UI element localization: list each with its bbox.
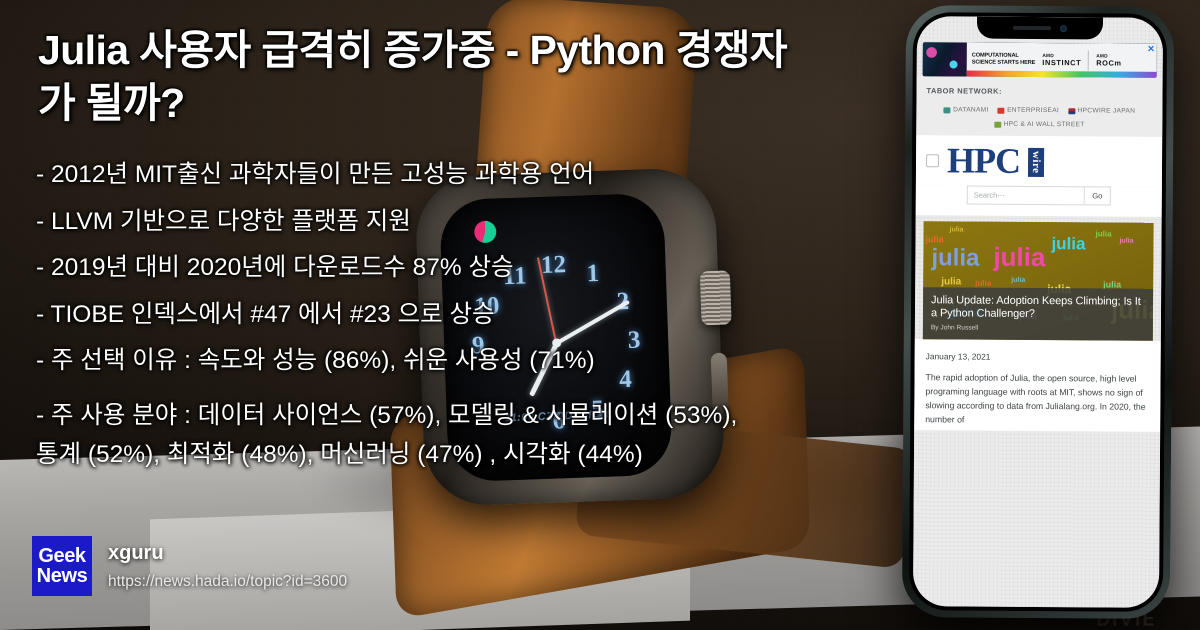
- list-item: - 주 선택 이유 : 속도와 성능 (86%), 쉬운 사용성 (71%): [36, 349, 826, 374]
- banner-ad[interactable]: COMPUTATIONAL SCIENCE STARTS HERE AMD IN…: [923, 42, 1157, 78]
- close-icon[interactable]: ✕: [1147, 45, 1155, 54]
- phone-screen: COMPUTATIONAL SCIENCE STARTS HERE AMD IN…: [913, 16, 1163, 608]
- network-link-label: ENTERPRISEAI: [1007, 107, 1059, 114]
- wall-street-icon: [994, 121, 1001, 127]
- geeknews-logo[interactable]: Geek News: [32, 536, 92, 596]
- tabor-links-row-1: DATANAMI ENTERPRISEAI HPCWIRE JAPAN: [926, 106, 1152, 115]
- logo-line-2: News: [37, 566, 88, 586]
- hero-caption: Julia Update: Adoption Keeps Climbing; I…: [923, 287, 1153, 341]
- ad-copy-line-2: SCIENCE STARTS HERE: [972, 60, 1036, 67]
- list-item: - LLVM 기반으로 다양한 플랫폼 지원: [36, 210, 826, 235]
- ad-divider: [1088, 50, 1089, 70]
- tabor-network-bar: TABOR NETWORK: DATANAMI ENTERPRISEAI: [916, 76, 1162, 137]
- phone-mockup: COMPUTATIONAL SCIENCE STARTS HERE AMD IN…: [902, 5, 1174, 619]
- footer: Geek News xguru https://news.hada.io/top…: [32, 536, 347, 596]
- network-link-datanami[interactable]: DATANAMI: [944, 106, 989, 113]
- network-link-label: HPCWIRE JAPAN: [1078, 107, 1136, 114]
- phone-notch: [977, 17, 1103, 40]
- phone-bezel: COMPUTATIONAL SCIENCE STARTS HERE AMD IN…: [909, 12, 1167, 612]
- article-body: January 13, 2021 The rapid adoption of J…: [914, 339, 1161, 432]
- tabor-heading: TABOR NETWORK:: [927, 86, 1153, 97]
- hpcwire-japan-icon: [1068, 108, 1075, 114]
- article-paragraph: The rapid adoption of Julia, the open so…: [925, 370, 1149, 428]
- ad-artwork: [923, 42, 967, 76]
- social-share-card: 12 1 2 3 4 5 6 9 10 11: [0, 0, 1200, 630]
- author-name: xguru: [108, 542, 347, 565]
- article-date: January 13, 2021: [926, 351, 1150, 363]
- web-page: COMPUTATIONAL SCIENCE STARTS HERE AMD IN…: [913, 16, 1163, 608]
- enterpriseai-icon: [998, 107, 1005, 113]
- article-headline[interactable]: Julia Update: Adoption Keeps Climbing; I…: [931, 294, 1145, 321]
- datanami-icon: [944, 107, 951, 113]
- list-item: - TIOBE 인덱스에서 #47 에서 #23 으로 상승: [36, 303, 826, 328]
- list-item: - 2012년 MIT출신 과학자들이 만든 고성능 과학용 언어: [36, 163, 826, 188]
- earpiece-speaker-icon: [1013, 26, 1051, 30]
- search-go-button[interactable]: Go: [1085, 186, 1111, 205]
- ad-brand-instinct: AMD INSTINCT: [1042, 54, 1081, 67]
- hpcwire-logo-suffix: wire: [1028, 148, 1044, 177]
- page-title: Julia 사용자 급격히 증가중 - Python 경쟁자가 될까?: [38, 24, 798, 131]
- source-url[interactable]: https://news.hada.io/topic?id=3600: [108, 573, 347, 591]
- network-link-label: DATANAMI: [953, 106, 989, 113]
- list-item: - 주 사용 분야 : 데이터 사이언스 (57%), 모델링 & 시뮬레이션 …: [36, 396, 826, 436]
- ad-brand-rocm: AMD ROCm: [1096, 54, 1121, 67]
- footer-text: xguru https://news.hada.io/topic?id=3600: [108, 542, 347, 591]
- rocm-label: ROCm: [1096, 58, 1121, 67]
- ad-copy: COMPUTATIONAL SCIENCE STARTS HERE: [972, 53, 1036, 67]
- article-byline: By John Russell: [931, 324, 1145, 332]
- article-hero[interactable]: julia julia julia julia julia julia juli…: [923, 221, 1154, 341]
- search-input[interactable]: Search⋯: [967, 185, 1085, 205]
- site-masthead: HPC wire: [916, 135, 1162, 186]
- logo-line-1: Geek: [38, 546, 85, 566]
- instinct-label: INSTINCT: [1042, 58, 1081, 67]
- list-item: - 2019년 대비 2020년에 다운로드수 87% 상승: [36, 256, 826, 281]
- list-item-continuation: 통계 (52%), 최적화 (48%), 머신러닝 (47%) , 시각화 (4…: [36, 435, 826, 475]
- front-camera-icon: [1060, 25, 1067, 32]
- hpcwire-logo-text[interactable]: HPC: [947, 146, 1020, 176]
- network-link-label: HPC & AI WALL STREET: [1004, 121, 1085, 129]
- search-bar: Search⋯ Go: [916, 185, 1162, 217]
- bullet-list: - 2012년 MIT출신 과학자들이 만든 고성능 과학용 언어 - LLVM…: [36, 163, 826, 475]
- network-link-hpc-ai-wall-street[interactable]: HPC & AI WALL STREET: [994, 121, 1085, 129]
- tabor-links-row-2: HPC & AI WALL STREET: [926, 120, 1152, 129]
- network-link-hpcwire-japan[interactable]: HPCWIRE JAPAN: [1068, 107, 1135, 114]
- network-link-enterpriseai[interactable]: ENTERPRISEAI: [998, 107, 1060, 114]
- menu-icon[interactable]: [926, 154, 939, 167]
